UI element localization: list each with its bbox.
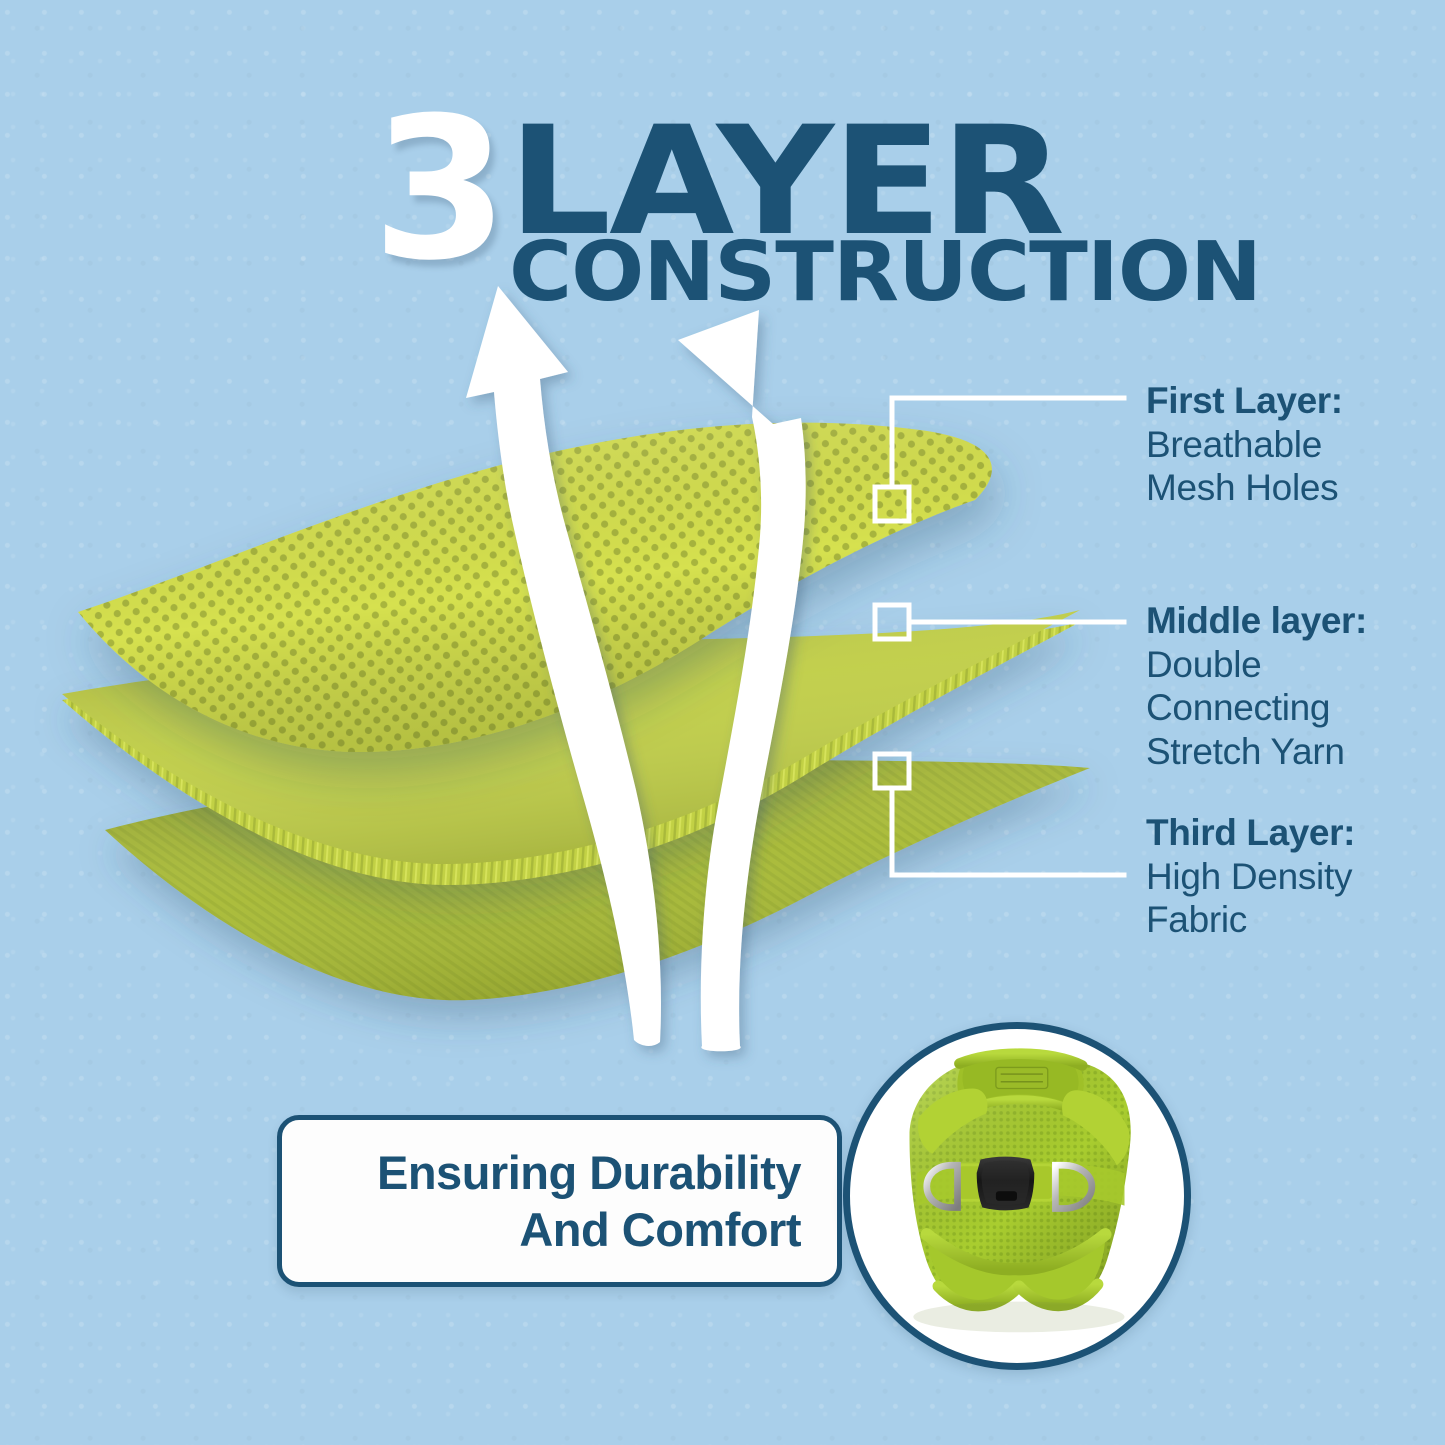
callout-third-layer: Third Layer: High Density Fabric xyxy=(1146,812,1416,942)
fabric-layer-third xyxy=(105,760,1090,1000)
dog-harness-illustration xyxy=(850,1029,1184,1363)
callout-third-layer-heading: Third Layer: xyxy=(1146,812,1416,855)
callout-first-layer-body: Breathable Mesh Holes xyxy=(1146,423,1416,510)
buckle-icon xyxy=(977,1157,1035,1211)
product-photo-circle xyxy=(843,1022,1191,1370)
callout-square-marker-middle-icon xyxy=(875,605,1124,639)
title-subtitle: CONSTRUCTION xyxy=(509,232,1261,314)
callout-square-marker-third-icon xyxy=(875,754,1124,875)
callout-middle-layer-body: Double Connecting Stretch Yarn xyxy=(1146,643,1416,774)
fabric-layer-middle xyxy=(62,610,1080,885)
callout-middle-layer: Middle layer: Double Connecting Stretch … xyxy=(1146,600,1416,774)
callout-first-layer: First Layer: Breathable Mesh Holes xyxy=(1146,380,1416,510)
page-title: 3 LAYER CONSTRUCTION xyxy=(372,104,1092,294)
callout-square-marker-first-icon xyxy=(875,398,1124,521)
airflow-arrow-left-icon xyxy=(466,286,661,1046)
infographic-poster: 3 LAYER CONSTRUCTION First Layer: Breath… xyxy=(0,0,1445,1445)
callout-first-layer-heading: First Layer: xyxy=(1146,380,1416,423)
callout-middle-layer-heading: Middle layer: xyxy=(1146,600,1416,643)
fabric-layer-first xyxy=(78,423,992,752)
title-number: 3 xyxy=(372,104,502,276)
tagline-text: Ensuring Durability And Comfort xyxy=(377,1144,837,1259)
tagline-banner: Ensuring Durability And Comfort xyxy=(277,1115,842,1287)
airflow-arrow-right-icon xyxy=(678,310,806,1051)
callout-third-layer-body: High Density Fabric xyxy=(1146,855,1416,942)
